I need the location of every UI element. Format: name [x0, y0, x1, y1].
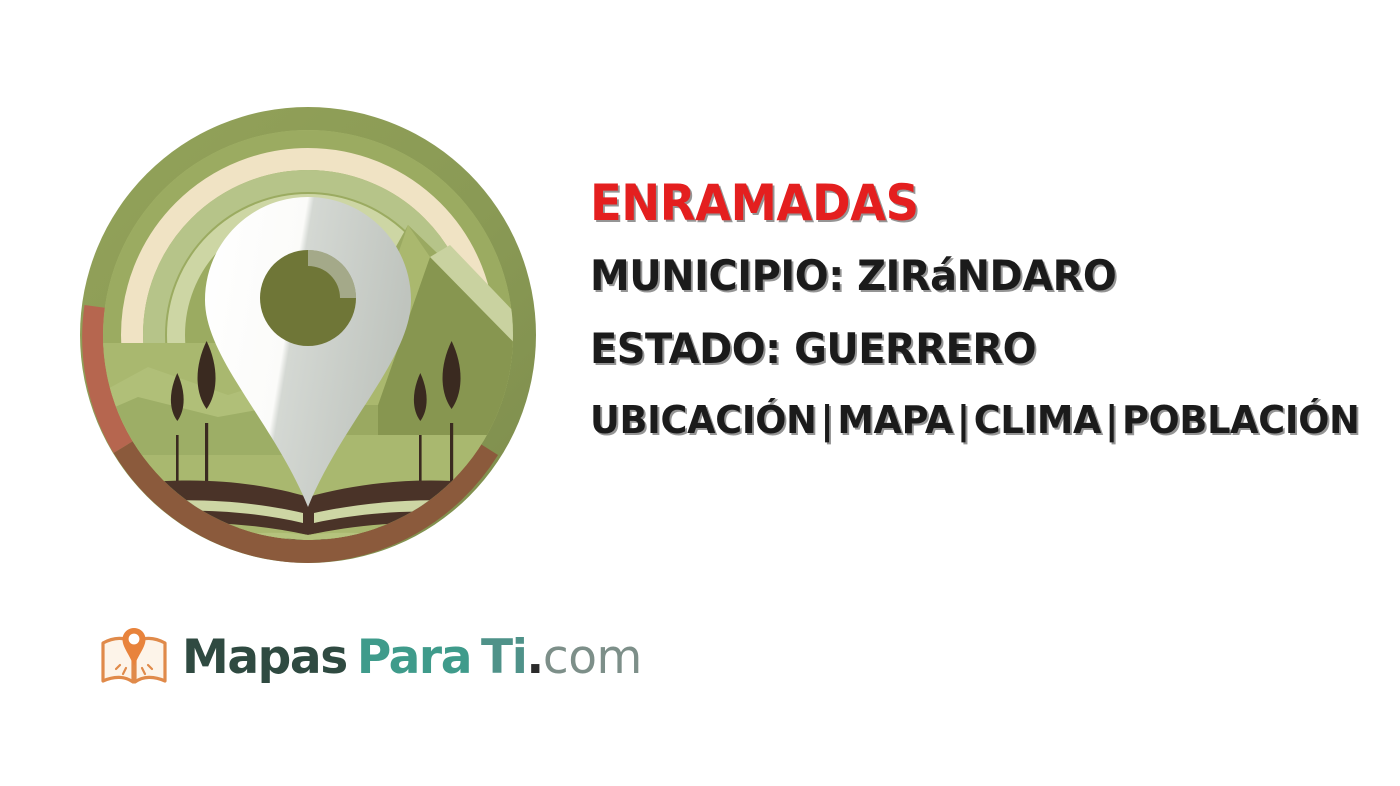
link-poblacion[interactable]: POBLACIÓN	[1122, 398, 1360, 442]
municipio-line: MUNICIPIO: ZIRáNDARO	[590, 255, 1350, 297]
section-links-line: UBICACIÓN|MAPA|CLIMA|POBLACIÓN	[590, 401, 1362, 439]
brand-part-para: Para	[357, 634, 471, 681]
brand-part-mapas: Mapas	[182, 634, 347, 681]
open-book-map-pin-icon	[98, 623, 170, 691]
link-mapa[interactable]: MAPA	[837, 398, 953, 442]
brand-wordmark: MapasParaTi.com	[182, 634, 642, 681]
link-separator: |	[1101, 398, 1122, 442]
estado-line: ESTADO: GUERRERO	[590, 328, 1350, 370]
page-title-place-name: ENRAMADAS	[590, 178, 1334, 228]
circular-landscape-map-pin-emblem	[78, 105, 538, 565]
brand-logo[interactable]: MapasParaTi.com	[98, 618, 642, 696]
link-clima[interactable]: CLIMA	[974, 398, 1101, 442]
brand-part-com: com	[543, 634, 642, 681]
link-separator: |	[816, 398, 837, 442]
brand-part-dot: .	[526, 634, 542, 681]
page-root: MapasParaTi.com ENRAMADAS MUNICIPIO: ZIR…	[0, 0, 1400, 786]
emblem-container	[78, 105, 538, 565]
info-panel: ENRAMADAS MUNICIPIO: ZIRáNDARO ESTADO: G…	[590, 178, 1390, 439]
brand-part-ti: Ti	[481, 634, 526, 681]
link-separator: |	[953, 398, 974, 442]
link-ubicacion[interactable]: UBICACIÓN	[590, 398, 816, 442]
